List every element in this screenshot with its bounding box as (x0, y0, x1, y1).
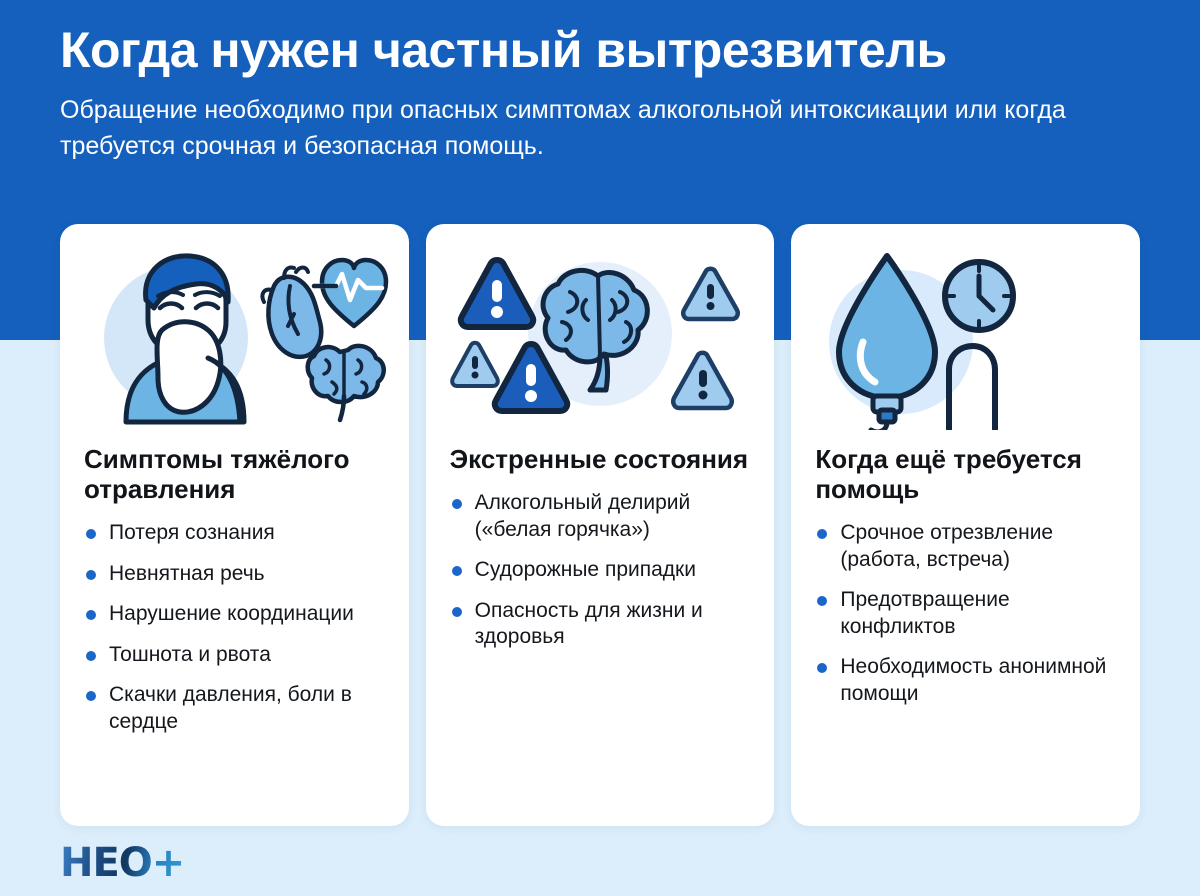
bullet-icon (86, 691, 96, 701)
brand-logo-text: НЕО+ (60, 840, 184, 886)
bullet-icon (86, 610, 96, 620)
card-list: Потеря сознания Невнятная речь Нарушение… (84, 520, 385, 735)
card-title: Экстренные состояния (450, 444, 751, 474)
brain-warning-triangles-illustration (450, 246, 751, 430)
list-item: Невнятная речь (84, 561, 385, 587)
list-item-label: Необходимость анонимной помощи (840, 655, 1106, 704)
header: Когда нужен частный вытрезвитель Обращен… (0, 0, 1200, 164)
bullet-icon (817, 596, 827, 606)
list-item: Предотвращение конфликтов (815, 587, 1116, 640)
bullet-icon (817, 663, 827, 673)
card-title: Симптомы тяжёлого отравления (84, 444, 385, 504)
cards-row: Симптомы тяжёлого отравления Потеря созн… (60, 224, 1140, 826)
page-subtitle: Обращение необходимо при опасных симптом… (60, 93, 1120, 164)
list-item-label: Предотвращение конфликтов (840, 588, 1009, 637)
bullet-icon (817, 529, 827, 539)
list-item-label: Судорожные припадки (475, 558, 696, 581)
list-item-label: Потеря сознания (109, 521, 275, 544)
list-item: Алкогольный делирий («белая горячка») (450, 490, 751, 543)
list-item: Опасность для жизни и здоровья (450, 598, 751, 651)
bullet-icon (452, 566, 462, 576)
list-item-label: Невнятная речь (109, 562, 265, 585)
list-item: Нарушение координации (84, 601, 385, 627)
list-item: Скачки давления, боли в сердце (84, 682, 385, 735)
card-when-else-help-needed[interactable]: Когда ещё требуется помощь Срочное отрез… (791, 224, 1140, 826)
list-item: Необходимость анонимной помощи (815, 654, 1116, 707)
card-emergency-conditions[interactable]: Экстренные состояния Алкогольный делирий… (426, 224, 775, 826)
bullet-icon (452, 607, 462, 617)
iv-drip-clock-illustration (815, 246, 1116, 430)
nauseated-man-heart-brain-illustration (84, 246, 385, 430)
list-item-label: Опасность для жизни и здоровья (475, 599, 703, 648)
list-item-label: Нарушение координации (109, 602, 354, 625)
bullet-icon (452, 499, 462, 509)
list-item-label: Тошнота и рвота (109, 643, 271, 666)
list-item: Тошнота и рвота (84, 642, 385, 668)
card-title: Когда ещё требуется помощь (815, 444, 1116, 504)
bullet-icon (86, 570, 96, 580)
card-list: Срочное отрезвление (работа, встреча) Пр… (815, 520, 1116, 707)
page-title: Когда нужен частный вытрезвитель (60, 22, 1140, 79)
list-item: Срочное отрезвление (работа, встреча) (815, 520, 1116, 573)
list-item: Потеря сознания (84, 520, 385, 546)
list-item-label: Алкогольный делирий («белая горячка») (475, 491, 691, 540)
bullet-icon (86, 529, 96, 539)
list-item-label: Скачки давления, боли в сердце (109, 683, 352, 732)
bullet-icon (86, 651, 96, 661)
card-severe-poisoning-symptoms[interactable]: Симптомы тяжёлого отравления Потеря созн… (60, 224, 409, 826)
brand-logo[interactable]: НЕО+ (60, 840, 184, 886)
list-item: Судорожные припадки (450, 557, 751, 583)
list-item-label: Срочное отрезвление (работа, встреча) (840, 521, 1053, 570)
card-list: Алкогольный делирий («белая горячка») Су… (450, 490, 751, 650)
